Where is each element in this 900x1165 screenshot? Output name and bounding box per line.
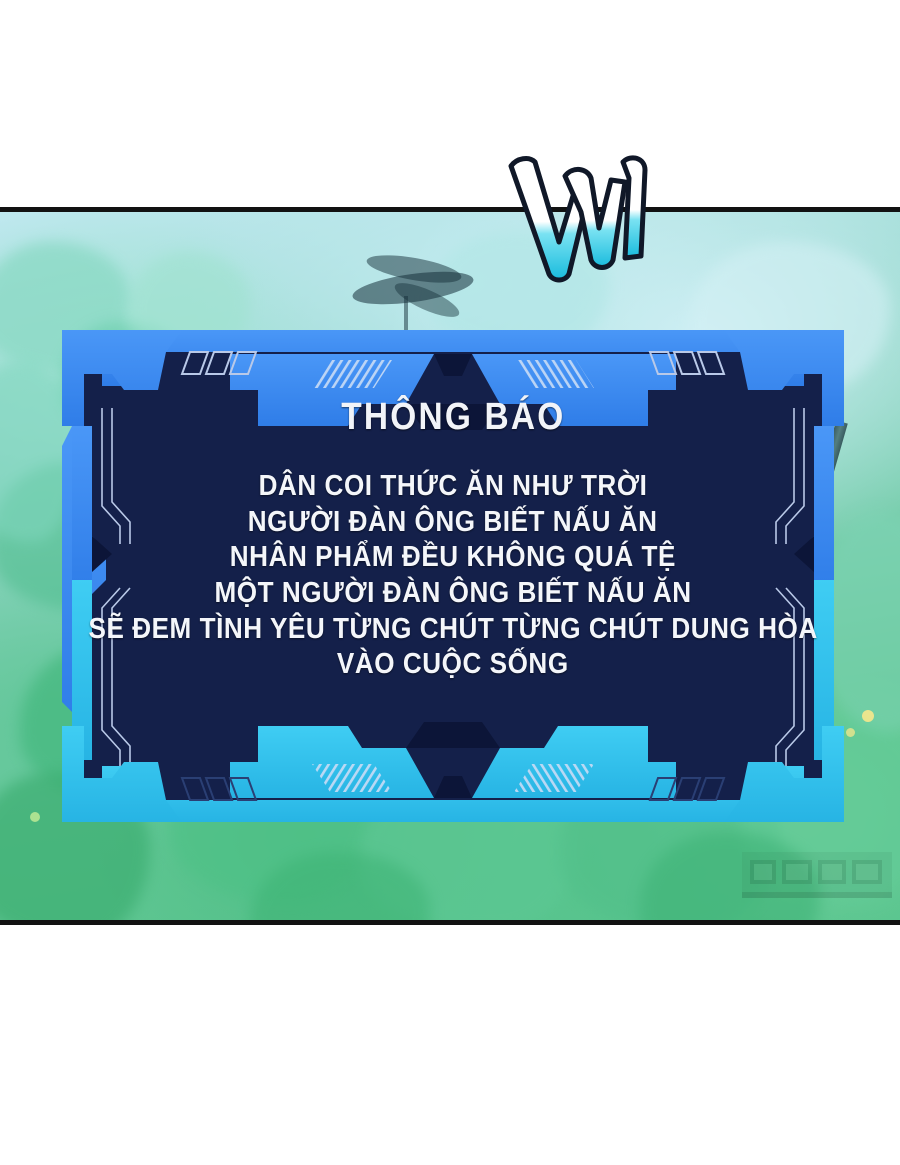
system-notice-panel bbox=[62, 330, 844, 822]
flower-accent bbox=[862, 710, 874, 722]
flower-accent bbox=[846, 728, 855, 737]
flower-accent bbox=[30, 812, 40, 822]
hud-frame-graphic bbox=[62, 330, 844, 822]
publisher-watermark-bar bbox=[742, 852, 892, 898]
